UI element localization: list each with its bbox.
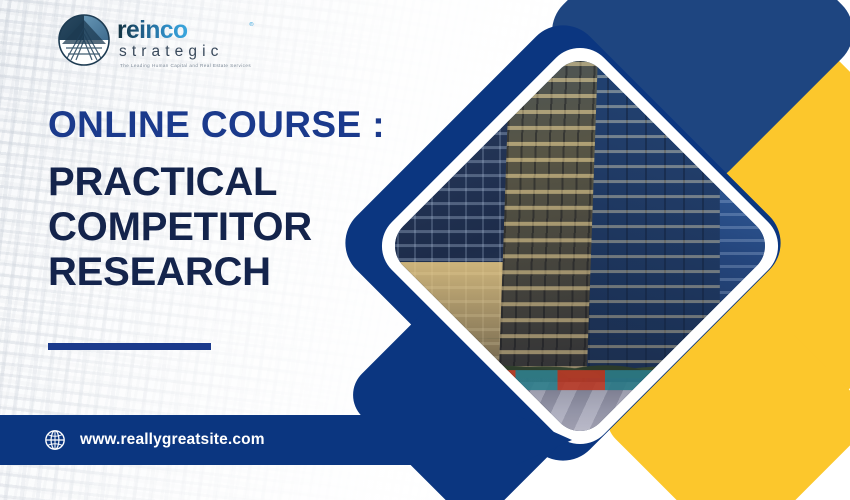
svg-text:reinco: reinco — [117, 17, 188, 43]
reinco-wordmark-icon: reinco ® — [117, 17, 265, 43]
headline-title: PRACTICAL COMPETITOR RESEARCH — [48, 160, 448, 296]
logo-wordmark-group: reinco ® strategic The Leading Human Cap… — [117, 14, 265, 68]
brand-logo[interactable]: reinco ® strategic The Leading Human Cap… — [58, 14, 265, 68]
headline-divider — [48, 343, 211, 350]
footer-bar: www.reallygreatsite.com — [0, 415, 572, 465]
logo-subword: strategic — [119, 44, 265, 60]
logo-tagline: The Leading Human Capital and Real Estat… — [120, 64, 265, 69]
headline-eyebrow: ONLINE COURSE : — [48, 106, 448, 144]
headline-title-line-2: COMPETITOR — [48, 205, 448, 250]
svg-text:®: ® — [249, 21, 254, 28]
globe-icon — [44, 429, 66, 451]
headline-title-line-3: RESEARCH — [48, 250, 448, 295]
reinco-emblem-icon — [58, 14, 110, 66]
headline-title-line-1: PRACTICAL — [48, 160, 448, 205]
headline-block: ONLINE COURSE : PRACTICAL COMPETITOR RES… — [48, 106, 448, 295]
website-url[interactable]: www.reallygreatsite.com — [80, 431, 265, 449]
poster-canvas: reinco ® strategic The Leading Human Cap… — [0, 0, 850, 500]
